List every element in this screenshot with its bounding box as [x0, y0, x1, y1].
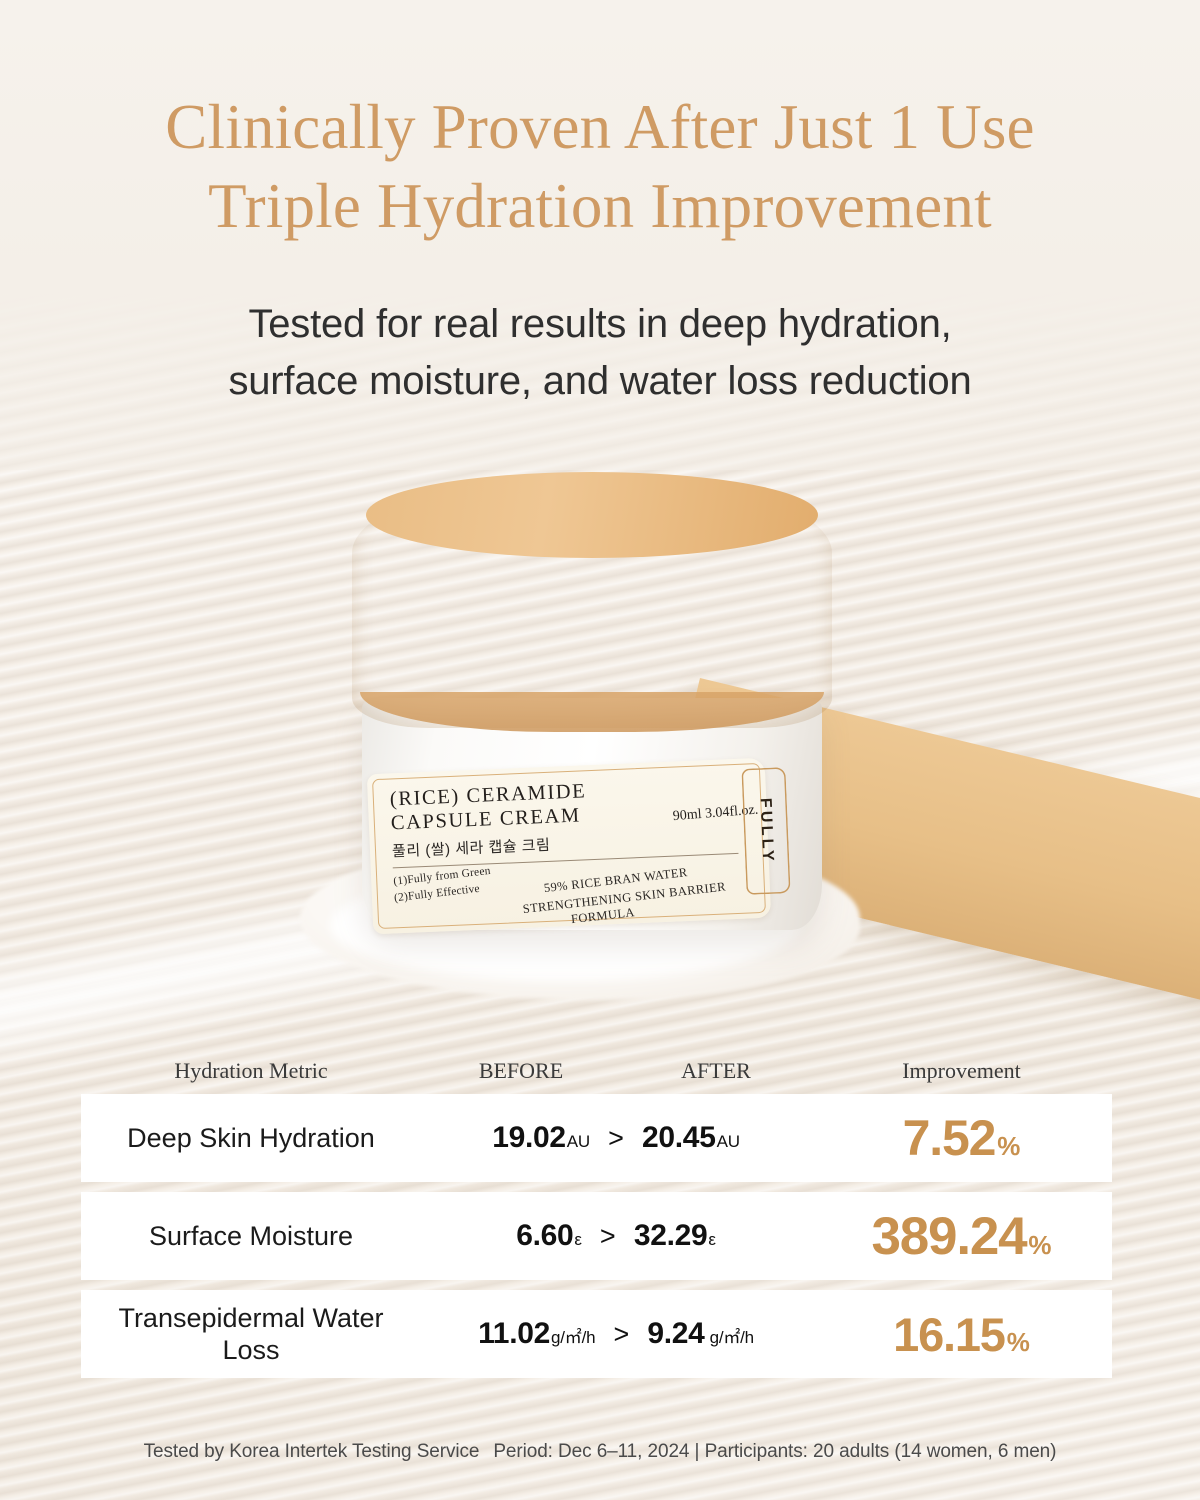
- before-unit: AU: [567, 1132, 590, 1152]
- comparison-arrow-icon: >: [582, 1221, 634, 1252]
- row-improvement-value: 389.24%: [811, 1206, 1112, 1267]
- row-before-value: 6.60ε: [516, 1219, 582, 1253]
- row-metric-label: Surface Moisture: [81, 1220, 421, 1252]
- row-improvement-value: 7.52%: [811, 1109, 1112, 1167]
- improvement-percent-sign: %: [997, 1131, 1020, 1162]
- row-after-value: 32.29ε: [634, 1219, 716, 1253]
- page-title: Clinically Proven After Just 1 Use Tripl…: [0, 96, 1200, 238]
- subtitle-line-1: Tested for real results in deep hydratio…: [248, 302, 951, 346]
- improvement-number: 7.52: [903, 1109, 996, 1167]
- results-table: Hydration Metric BEFORE AFTER Improvemen…: [81, 1048, 1112, 1388]
- row-improvement-value: 16.15%: [811, 1307, 1112, 1362]
- row-after-value: 20.45AU: [642, 1121, 740, 1155]
- row-before-value: 19.02AU: [492, 1121, 590, 1155]
- headline-line-2: Triple Hydration Improvement: [0, 175, 1200, 238]
- jar-cap: [352, 478, 832, 728]
- product-label: (RICE) CERAMIDE CAPSULE CREAM 풀리 (쌀) 세라 …: [367, 758, 771, 935]
- headline-line-1: Clinically Proven After Just 1 Use: [165, 92, 1034, 162]
- improvement-percent-sign: %: [1007, 1327, 1030, 1358]
- after-number: 20.45: [642, 1121, 716, 1155]
- brand-name: FULLY: [756, 798, 777, 865]
- comparison-arrow-icon: >: [590, 1123, 642, 1154]
- after-unit: ε: [708, 1230, 715, 1250]
- page-subtitle: Tested for real results in deep hydratio…: [0, 296, 1200, 410]
- product-photo: (RICE) CERAMIDE CAPSULE CREAM 풀리 (쌀) 세라 …: [0, 440, 1200, 1060]
- row-after-value: 9.24g/㎡/h: [647, 1317, 754, 1351]
- before-unit: g/㎡/h: [551, 1323, 595, 1348]
- table-row: Surface Moisture 6.60ε > 32.29ε 389.24%: [81, 1192, 1112, 1280]
- jar-cap-rim: [360, 692, 824, 732]
- improvement-number: 389.24: [871, 1206, 1026, 1267]
- column-header-after: AFTER: [621, 1058, 811, 1084]
- label-claim-2-left: (2)Fully Effective: [393, 883, 480, 905]
- row-before-value: 11.02g/㎡/h: [478, 1317, 595, 1351]
- improvement-number: 16.15: [893, 1307, 1005, 1362]
- row-metric-label: Deep Skin Hydration: [81, 1122, 421, 1154]
- row-metric-label-line-2: Loss: [81, 1334, 421, 1366]
- column-header-metric: Hydration Metric: [81, 1058, 421, 1084]
- footnote-details: Period: Dec 6–11, 2024 | Participants: 2…: [493, 1441, 1056, 1462]
- improvement-percent-sign: %: [1028, 1230, 1051, 1261]
- table-header-row: Hydration Metric BEFORE AFTER Improvemen…: [81, 1048, 1112, 1094]
- footnote-tested-by: Tested by Korea Intertek Testing Service: [144, 1441, 480, 1462]
- before-number: 11.02: [478, 1317, 550, 1351]
- product-jar: (RICE) CERAMIDE CAPSULE CREAM 풀리 (쌀) 세라 …: [352, 478, 832, 948]
- before-number: 6.60: [516, 1219, 573, 1253]
- column-header-improvement: Improvement: [811, 1058, 1112, 1084]
- after-number: 32.29: [634, 1219, 708, 1253]
- comparison-arrow-icon: >: [595, 1319, 647, 1350]
- before-unit: ε: [574, 1230, 581, 1250]
- subtitle-line-2: surface moisture, and water loss reducti…: [0, 353, 1200, 410]
- jar-cap-top: [366, 472, 818, 558]
- column-header-before: BEFORE: [421, 1058, 621, 1084]
- row-metric-label: Transepidermal Water Loss: [81, 1302, 421, 1367]
- brand-tab: FULLY: [741, 767, 790, 895]
- table-row: Transepidermal Water Loss 11.02g/㎡/h > 9…: [81, 1290, 1112, 1378]
- after-number: 9.24: [647, 1317, 704, 1351]
- table-row: Deep Skin Hydration 19.02AU > 20.45AU 7.…: [81, 1094, 1112, 1182]
- study-footnote: Tested by Korea Intertek Testing Service…: [0, 1441, 1200, 1463]
- after-unit: g/㎡/h: [710, 1323, 754, 1348]
- row-metric-label-line-1: Transepidermal Water: [81, 1302, 421, 1334]
- before-number: 19.02: [492, 1121, 566, 1155]
- after-unit: AU: [717, 1132, 740, 1152]
